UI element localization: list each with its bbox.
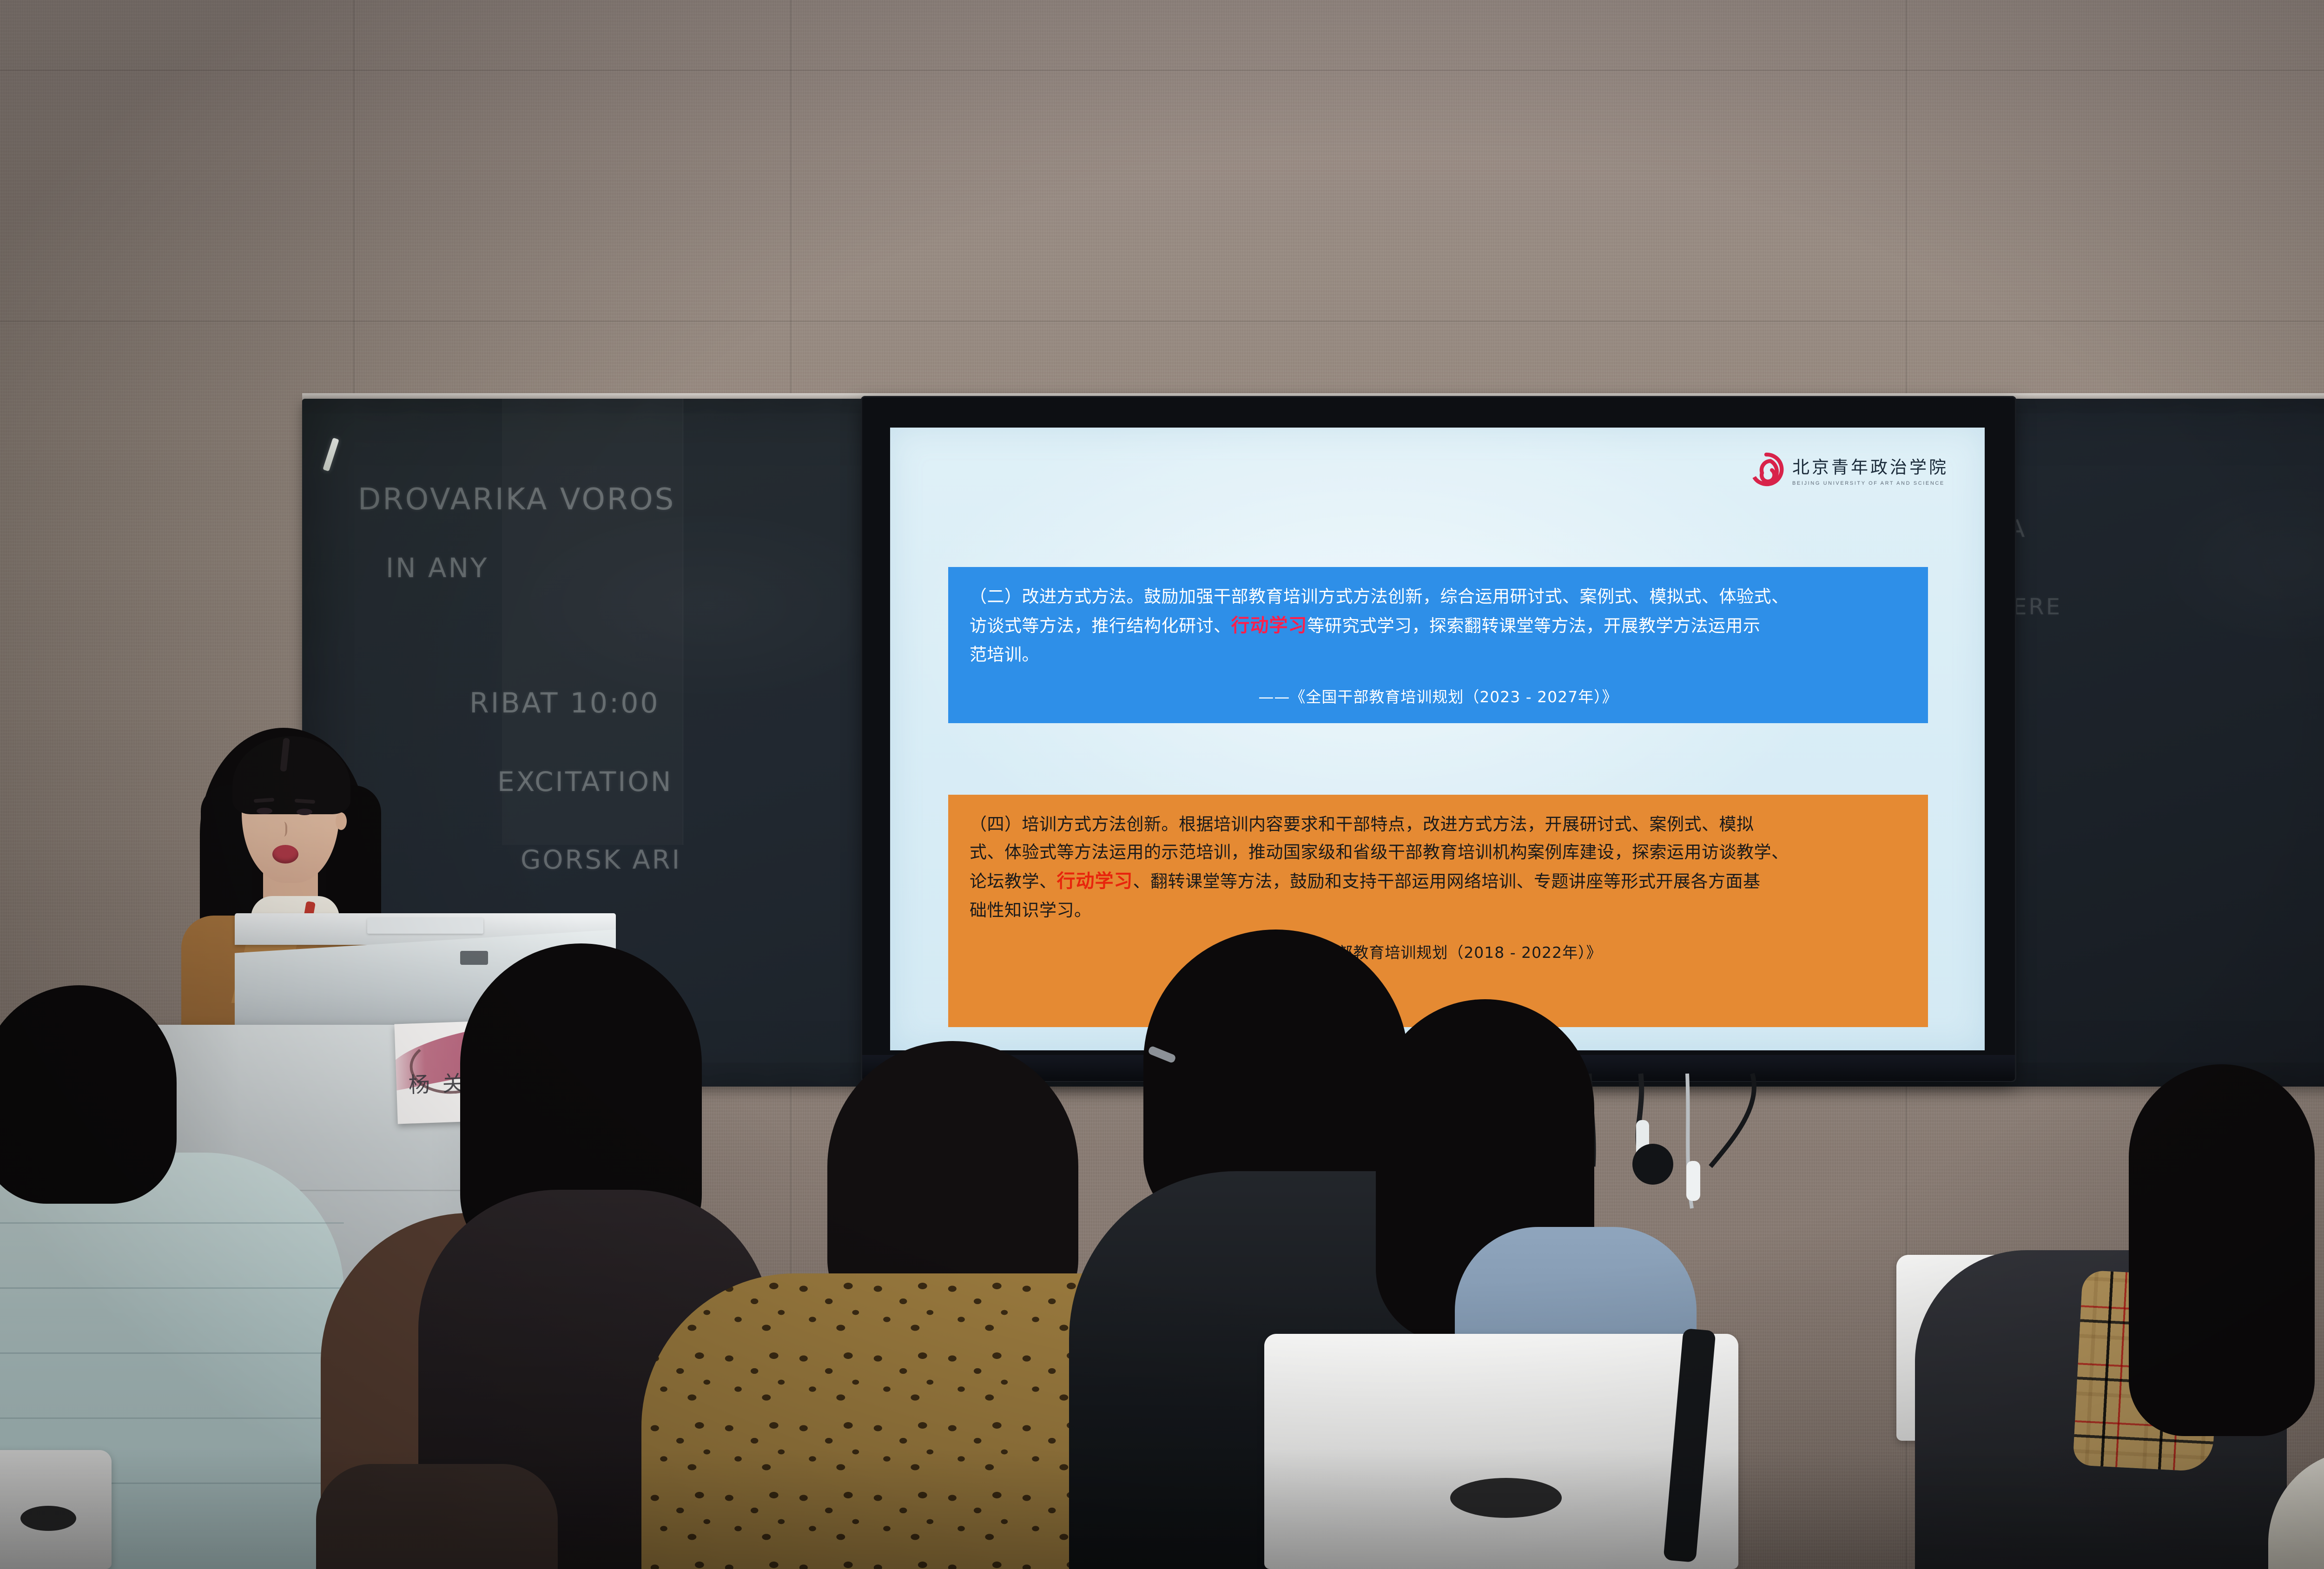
red-spiral-logo-icon [1749, 452, 1784, 487]
projected-slide[interactable]: 北京青年政治学院 BEIJING UNIVERSITY OF ART AND S… [890, 428, 1985, 1050]
chalk-text: GORSK ARI [521, 845, 681, 875]
orange-line-4-seg-1: 础性知识学习。 [970, 900, 1092, 920]
logo-chinese-name: 北京青年政治学院 [1792, 453, 1948, 478]
chalk-text: DROVARIKA VOROS [358, 482, 675, 517]
orange-citation: 《全国干部教育培训规划（2018 - 2022年）》 [970, 940, 1907, 965]
blue-line-2-seg-1: 访谈式等方法，推行结构化研讨、 [970, 616, 1231, 636]
audience-head-bun [316, 1464, 558, 1569]
blue-line-2-seg-3: 等研究式学习，探索翻转课堂等方法，开展教学方法运用示 [1307, 616, 1761, 636]
highlight-action-learning: 行动学习 [1231, 615, 1307, 636]
blue-line-1: （二）改进方式方法。鼓励加强干部教育培训方式方法创新，综合运用研讨式、案例式、模… [970, 583, 1907, 611]
logo-english-name: BEIJING UNIVERSITY OF ART AND SCIENCE [1792, 481, 1948, 486]
orange-quote-box: （四）培训方式方法创新。根据培训内容要求和干部特点，改进方式方法，开展研讨式、案… [948, 795, 1928, 1027]
orange-line-1: （四）培训方式方法创新。根据培训内容要求和干部特点，改进方式方法，开展研讨式、案… [970, 811, 1907, 838]
presenter-mouth [272, 845, 298, 864]
lecture-hall-scene: DROVARIKA VOROS IN ANY RIBAT 10:00 EXCIT… [0, 0, 2324, 1569]
chair-handle-hole [1450, 1478, 1562, 1518]
presenter-eye-left [257, 808, 272, 814]
chalk-text: RIBAT 10:00 [469, 687, 660, 719]
blue-line-1-seg-1: （二）改进方式方法。鼓励加强干部教育培训方式方法创新，综合运用研讨式、案例式、模… [970, 587, 1789, 607]
blue-line-2: 访谈式等方法，推行结构化研讨、行动学习等研究式学习，探索翻转课堂等方法，开展教学… [970, 611, 1907, 641]
wall-seam [0, 321, 2324, 322]
highlight-action-learning: 行动学习 [1057, 870, 1133, 892]
podium-control-button[interactable] [460, 951, 488, 965]
institution-logo: 北京青年政治学院 BEIJING UNIVERSITY OF ART AND S… [1749, 452, 1948, 487]
wall-seam [0, 70, 2324, 71]
blue-citation: ——《全国干部教育培训规划（2023 - 2027年）》 [970, 685, 1907, 709]
presenter-nose [279, 822, 287, 837]
presenter-eye-right [297, 809, 312, 815]
orange-line-3: 论坛教学、行动学习、翻转课堂等方法，鼓励和支持干部运用网络培训、专题讲座等形式开… [970, 866, 1907, 897]
chair[interactable] [0, 1450, 112, 1569]
audience-head [2129, 1064, 2315, 1436]
orange-line-2-seg-1: 式、体验式等方法运用的示范培训，推动国家级和省级干部教育培训机构案例库建设，探索… [970, 842, 1789, 862]
blue-line-3-seg-1: 范培训。 [970, 645, 1039, 665]
orange-line-4: 础性知识学习。 [970, 897, 1907, 924]
chair-handle-hole [20, 1506, 76, 1531]
podium-hinge [367, 918, 483, 934]
chalk-text: EXCITATION [497, 766, 673, 798]
orange-line-3-seg-3: 、翻转课堂等方法，鼓励和支持干部运用网络培训、专题讲座等形式开展各方面基 [1133, 871, 1761, 891]
blue-quote-box: （二）改进方式方法。鼓励加强干部教育培训方式方法创新，综合运用研讨式、案例式、模… [948, 567, 1928, 723]
orange-line-3-seg-1: 论坛教学、 [970, 871, 1057, 891]
orange-line-2: 式、体验式等方法运用的示范培训，推动国家级和省级干部教育培训机构案例库建设，探索… [970, 838, 1907, 866]
chalk-text: IN ANY [386, 552, 489, 584]
audience-head [0, 985, 177, 1204]
presenter-ear [336, 812, 347, 830]
orange-line-1-seg-1: （四）培训方式方法创新。根据培训内容要求和干部特点，改进方式方法，开展研讨式、案… [970, 814, 1754, 834]
blue-line-3: 范培训。 [970, 641, 1907, 669]
